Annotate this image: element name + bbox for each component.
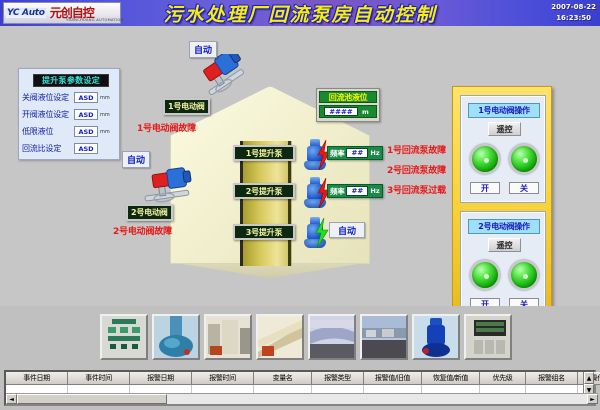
param-row-return-ratio: 回流比设定 ASD (22, 141, 120, 156)
column-header-alarm-group[interactable]: 报警组名 (526, 372, 578, 385)
valve-1-open-label[interactable]: 开 (470, 182, 500, 194)
param-unit: mm (100, 112, 110, 118)
param-row-close-valve-level: 关阀液位设定 ASD mm (22, 90, 120, 105)
time-text: 16:23:50 (551, 13, 596, 24)
column-header-alarm-old-value[interactable]: 报警值/旧值 (364, 372, 422, 385)
thumbnail-strip (0, 306, 600, 368)
valve-2-mode-indicator[interactable]: 自动 (122, 151, 150, 168)
horizontal-scroll-track[interactable] (167, 394, 587, 404)
param-value-input[interactable]: ASD (74, 109, 98, 120)
pump-1-tag: 1号提升泵 (233, 145, 295, 161)
alarm-return-pump-1: 1号回流泵故障 (387, 143, 446, 156)
pump-3-running-bolt-icon (314, 218, 330, 248)
param-unit: mm (100, 129, 110, 135)
alarm-event-table: 事件日期 事件时间 报警日期 报警时间 变量名 报警类型 报警值/旧值 恢复值/… (4, 370, 596, 406)
level-value: #### (324, 107, 358, 116)
valve-2-tag: 2号电动阀 (126, 204, 173, 221)
valve-1-mode-indicator[interactable]: 自动 (189, 41, 217, 58)
column-header-event-date[interactable]: 事件日期 (6, 372, 68, 385)
process-canvas: 提升泵参数设定 关阀液位设定 ASD mm 开阀液位设定 ASD mm 低限液位… (0, 26, 600, 306)
column-header-alarm-date[interactable]: 报警日期 (130, 372, 192, 385)
frequency-value: ## (346, 148, 368, 158)
thumbnail-pump-impeller[interactable] (152, 314, 200, 360)
valve-1-open-lamp[interactable] (470, 144, 500, 174)
valve-2-close-lamp[interactable] (509, 260, 539, 290)
datetime-display: 2007-08-22 16:23:50 (551, 2, 596, 24)
param-label: 回流比设定 (22, 143, 74, 154)
logo-subtitle-text: YUANCHUANG AUTOMATION (66, 18, 123, 22)
column-header-variable-name[interactable]: 变量名 (254, 372, 312, 385)
alarm-return-pump-3: 3号回流泵过载 (387, 183, 446, 196)
thumbnail-plant-aerial[interactable] (360, 314, 408, 360)
column-header-restore-new-value[interactable]: 恢复值/新值 (422, 372, 480, 385)
thumbnail-plant-building[interactable] (204, 314, 252, 360)
scroll-right-arrow-icon[interactable]: ► (587, 394, 598, 404)
alarm-table-header-row: 事件日期 事件时间 报警日期 报警时间 变量名 报警类型 报警值/旧值 恢复值/… (6, 372, 594, 385)
frequency-unit: Hz (370, 187, 379, 195)
thumbnail-control-panel-hmi[interactable] (100, 314, 148, 360)
company-logo: YC Auto 元创自控 YUANCHUANG AUTOMATION (3, 2, 121, 24)
alarm-return-pump-2: 2号回流泵故障 (387, 163, 446, 176)
column-header-alarm-time[interactable]: 报警时间 (192, 372, 254, 385)
valve-2-fault-alarm: 2号电动阀故障 (113, 224, 172, 237)
valve-2-remote-button[interactable]: 遥控 (488, 238, 521, 252)
valve-1-graphic[interactable] (197, 54, 251, 100)
parameter-panel-title: 提升泵参数设定 (33, 74, 109, 87)
date-text: 2007-08-22 (551, 2, 596, 13)
thumbnail-control-cabinet[interactable] (464, 314, 512, 360)
valve-2-operation-panel: 2号电动阀操作 遥控 开 关 (460, 211, 546, 319)
param-value-input[interactable]: ASD (74, 143, 98, 154)
return-pool-level-display: 回流池液位 #### m (316, 88, 380, 122)
param-label: 开阀液位设定 (22, 109, 74, 120)
thumbnail-submersible-pump[interactable] (412, 314, 460, 360)
thumbnail-clarifier-tank[interactable] (256, 314, 304, 360)
level-display-title: 回流池液位 (319, 91, 377, 103)
param-label: 关阀液位设定 (22, 92, 74, 103)
logo-chinese-text: 元创自控 (50, 8, 94, 19)
frequency-value: ## (346, 186, 368, 196)
scroll-up-arrow-icon[interactable]: ▲ (584, 372, 594, 384)
valve-1-fault-alarm: 1号电动阀故障 (137, 121, 196, 134)
frequency-label: 频率 (330, 148, 344, 159)
column-header-alarm-type[interactable]: 报警类型 (312, 372, 364, 385)
pump-3-tag: 3号提升泵 (233, 224, 295, 240)
column-header-priority[interactable]: 优先级 (480, 372, 526, 385)
param-unit: mm (100, 95, 110, 101)
scroll-left-arrow-icon[interactable]: ◄ (6, 394, 17, 404)
frequency-label: 频率 (330, 186, 344, 197)
hmi-screen: YC Auto 元创自控 YUANCHUANG AUTOMATION 污水处理厂… (0, 0, 600, 410)
valve-operation-frame: 1号电动阀操作 遥控 开 关 2号电动阀操作 遥控 开 关 (452, 86, 552, 326)
valve-1-operation-title: 1号电动阀操作 (468, 103, 540, 118)
thumbnail-aeration-basin[interactable] (308, 314, 356, 360)
valve-1-tag: 1号电动阀 (163, 98, 210, 115)
valve-1-remote-button[interactable]: 遥控 (488, 122, 521, 136)
valve-2-open-lamp[interactable] (470, 260, 500, 290)
valve-1-close-lamp[interactable] (509, 144, 539, 174)
valve-2-operation-title: 2号电动阀操作 (468, 219, 540, 234)
column-header-event-time[interactable]: 事件时间 (68, 372, 130, 385)
level-display-readout: #### m (319, 105, 377, 118)
horizontal-scroll-thumb[interactable] (17, 394, 167, 404)
param-value-input[interactable]: ASD (74, 92, 98, 103)
logo-mark-text: YC Auto (6, 8, 46, 18)
pump-3-mode-indicator[interactable]: 自动 (329, 222, 365, 238)
pump-1-frequency-display: 频率 ## Hz (327, 146, 383, 160)
param-value-input[interactable]: ASD (74, 126, 98, 137)
frequency-unit: Hz (370, 149, 379, 157)
title-bar: YC Auto 元创自控 YUANCHUANG AUTOMATION 污水处理厂… (0, 0, 600, 26)
valve-1-close-label[interactable]: 关 (509, 182, 539, 194)
param-label: 低限液位 (22, 126, 74, 137)
valve-1-operation-panel: 1号电动阀操作 遥控 开 关 (460, 95, 546, 203)
param-row-low-limit-level: 低限液位 ASD mm (22, 124, 120, 139)
param-row-open-valve-level: 开阀液位设定 ASD mm (22, 107, 120, 122)
pump-2-tag: 2号提升泵 (233, 183, 295, 199)
level-unit: m (362, 108, 369, 116)
pump-2-frequency-display: 频率 ## Hz (327, 184, 383, 198)
pump-parameter-panel: 提升泵参数设定 关阀液位设定 ASD mm 开阀液位设定 ASD mm 低限液位… (18, 68, 120, 160)
horizontal-scrollbar[interactable]: ◄ ► (6, 393, 598, 404)
